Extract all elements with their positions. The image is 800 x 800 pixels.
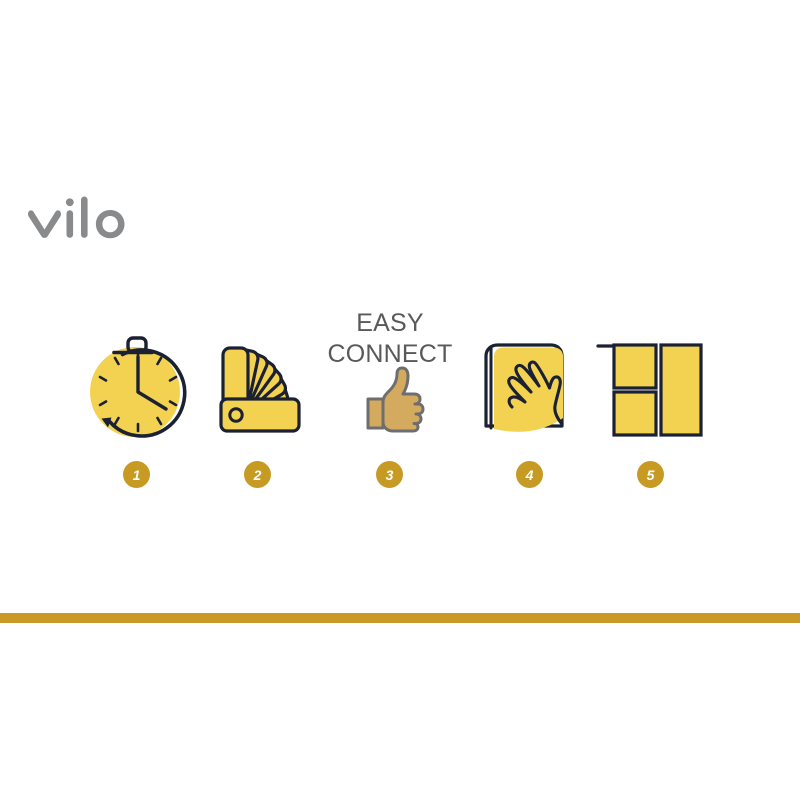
- step-badge-5: 5: [637, 461, 664, 488]
- step-badge-1: 1: [123, 461, 150, 488]
- feature-icon-row: 1: [0, 300, 800, 500]
- slide-canvas: vilo: [0, 0, 800, 800]
- thumbs-up-icon: [315, 304, 465, 454]
- panel-layout-icon: [576, 300, 726, 450]
- feature-item-3[interactable]: EASY CONNECT 3: [315, 300, 465, 500]
- step-badge-2: 2: [244, 461, 271, 488]
- step-badge-4: 4: [516, 461, 543, 488]
- step-badge-3: 3: [376, 461, 403, 488]
- color-swatch-fan-icon: [183, 300, 333, 450]
- vilo-logo: vilo: [24, 196, 144, 248]
- feature-item-2[interactable]: 2: [183, 300, 333, 500]
- bottom-accent-bar: [0, 613, 800, 623]
- feature-item-5[interactable]: 5: [576, 300, 726, 500]
